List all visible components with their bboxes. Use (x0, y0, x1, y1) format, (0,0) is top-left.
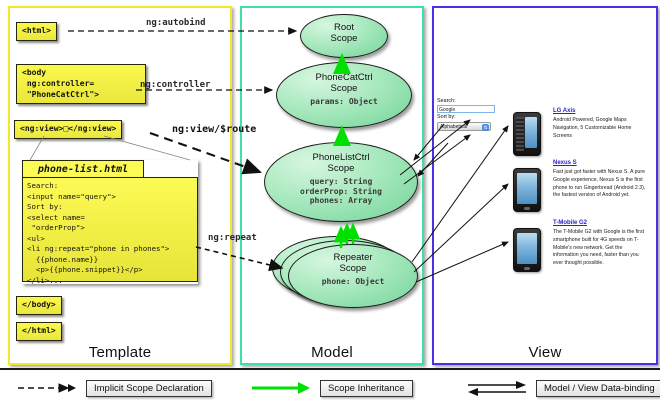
legend: Implicit Scope Declaration Scope Inherit… (0, 368, 660, 407)
home-button-icon (524, 267, 530, 270)
phone-list-html-card: phone-list.html Search: <input name="que… (22, 160, 198, 284)
legend-item-data-binding: Model / View Data-binding (466, 378, 660, 398)
legend-label-implicit-scope: Implicit Scope Declaration (86, 380, 212, 397)
phone-screen (525, 117, 537, 148)
scope-repeater-props: phone: Object (289, 277, 417, 287)
panel-view-label: View (434, 344, 656, 361)
phone-name-link[interactable]: Nexus S (553, 160, 649, 166)
file-card-code: Search: <input name="query"> Sort by: <s… (22, 177, 198, 282)
angularjs-architecture-diagram: Template <html> <body ng:controller= "Ph… (0, 0, 660, 405)
connector-label-ngview-route: ng:view/$route (172, 124, 256, 135)
phone-snippet: Fast just got faster with Nexus S. A pur… (553, 169, 649, 200)
scope-phonelistctrl-props: query: String orderProp: String phones: … (265, 177, 417, 206)
view-search-form: Search: Google Sort by: Alphabetical ⇅ (437, 98, 499, 131)
panel-template-label: Template (10, 344, 230, 361)
scope-repeater-title-line2: Scope (289, 264, 417, 275)
chevron-updown-icon: ⇅ (482, 124, 489, 131)
scope-root: Root Scope (300, 14, 388, 58)
legend-label-scope-inheritance: Scope Inheritance (320, 380, 413, 397)
phone-screen (517, 173, 537, 204)
phone-thumbnail-nexus-s (513, 168, 541, 212)
search-input[interactable]: Google (437, 105, 495, 113)
scope-phonelistctrl-title-line2: Scope (265, 164, 417, 175)
scope-repeater: Repeater Scope phone: Object (288, 244, 418, 308)
connector-label-controller: ng:controller (140, 80, 210, 90)
phone-snippet: Android Powered, Google Maps Navigation,… (553, 117, 649, 140)
phone-list-item: T-Mobile G2 The T-Mobile G2 with Google … (553, 220, 649, 268)
phone-name-link[interactable]: LG Axis (553, 108, 649, 114)
scope-phonecatctrl: PhoneCatCtrl Scope params: Object (276, 62, 412, 128)
sort-select[interactable]: Alphabetical ⇅ (437, 122, 491, 131)
scope-repeater-title: Repeater Scope (289, 245, 417, 275)
phone-snippet: The T-Mobile G2 with Google is the first… (553, 229, 649, 268)
sort-label: Sort by: (437, 114, 499, 121)
search-label: Search: (437, 98, 499, 105)
phone-list-item: LG Axis Android Powered, Google Maps Nav… (553, 108, 649, 140)
legend-item-implicit-scope: Implicit Scope Declaration (16, 378, 212, 398)
green-arrow-icon (250, 379, 312, 397)
phone-thumbnail-t-mobile-g2 (513, 228, 541, 272)
keyboard-icon (516, 117, 524, 151)
phone-screen (517, 233, 537, 264)
panel-model-label: Model (242, 344, 422, 361)
scope-phonecatctrl-title: PhoneCatCtrl Scope (277, 63, 411, 95)
scope-root-title: Root Scope (301, 15, 387, 45)
phone-list-item: Nexus S Fast just got faster with Nexus … (553, 160, 649, 200)
phone-name-link[interactable]: T-Mobile G2 (553, 220, 649, 226)
code-tag-ngview: <ng:view>□</ng:view> (14, 120, 122, 139)
home-button-icon (524, 207, 530, 210)
code-tag-body-open: <body ng:controller= "PhoneCatCtrl"> (16, 64, 146, 104)
legend-label-data-binding: Model / View Data-binding (536, 380, 660, 397)
scope-phonecatctrl-props: params: Object (277, 97, 411, 107)
scope-root-title-line2: Scope (301, 34, 387, 45)
scope-phonelistctrl-title: PhoneListCtrl Scope (265, 143, 417, 175)
phone-thumbnail-lg-axis (513, 112, 541, 156)
code-tag-body-close: </body> (16, 296, 62, 315)
code-tag-html-open: <html> (16, 22, 57, 41)
sort-select-value: Alphabetical (440, 124, 467, 130)
dashed-arrow-icon (16, 379, 78, 397)
double-arrow-icon (466, 379, 528, 397)
scope-phonecatctrl-title-line2: Scope (277, 84, 411, 95)
scope-phonelistctrl: PhoneListCtrl Scope query: String orderP… (264, 142, 418, 222)
legend-item-scope-inheritance: Scope Inheritance (250, 378, 413, 398)
connector-label-autobind: ng:autobind (146, 18, 206, 28)
connector-label-ngrepeat: ng:repeat (208, 233, 257, 243)
code-tag-html-close: </html> (16, 322, 62, 341)
